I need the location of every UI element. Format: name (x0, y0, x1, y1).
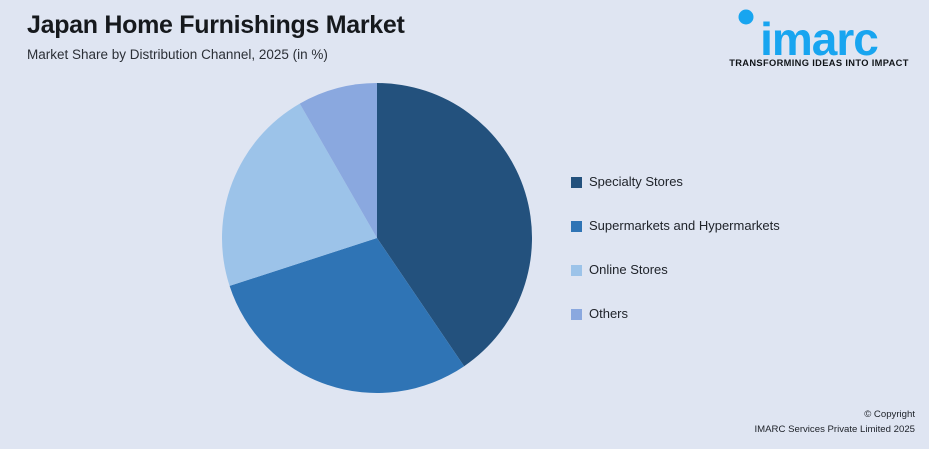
pie-chart-svg (222, 83, 532, 393)
legend-swatch-icon (571, 221, 582, 232)
svg-text:imarc: imarc (760, 13, 878, 60)
chart-page: Japan Home Furnishings Market Market Sha… (0, 0, 929, 449)
legend-label: Supermarkets and Hypermarkets (589, 218, 780, 234)
legend-item-supermarkets-hypermarkets: Supermarkets and Hypermarkets (571, 204, 891, 248)
legend-label: Specialty Stores (589, 174, 683, 190)
legend-swatch-icon (571, 265, 582, 276)
legend-label: Online Stores (589, 262, 668, 278)
chart-header: Japan Home Furnishings Market Market Sha… (27, 10, 667, 64)
imarc-wordmark-icon: imarc (724, 8, 914, 60)
legend-swatch-icon (571, 309, 582, 320)
copyright-line-1: © Copyright (755, 407, 916, 422)
legend-item-others: Others (571, 292, 891, 336)
imarc-logo: imarc TRANSFORMING IDEAS INTO IMPACT (721, 8, 917, 68)
legend-item-specialty-stores: Specialty Stores (571, 160, 891, 204)
legend-item-online-stores: Online Stores (571, 248, 891, 292)
copyright-line-2: IMARC Services Private Limited 2025 (755, 422, 916, 437)
legend-label: Others (589, 306, 628, 322)
logo-tagline: TRANSFORMING IDEAS INTO IMPACT (721, 58, 917, 68)
chart-subtitle: Market Share by Distribution Channel, 20… (27, 46, 667, 64)
page-title: Japan Home Furnishings Market (27, 10, 667, 40)
pie-chart (222, 83, 532, 393)
chart-legend: Specialty Stores Supermarkets and Hyperm… (571, 160, 891, 336)
copyright-footer: © Copyright IMARC Services Private Limit… (755, 407, 916, 437)
legend-swatch-icon (571, 177, 582, 188)
